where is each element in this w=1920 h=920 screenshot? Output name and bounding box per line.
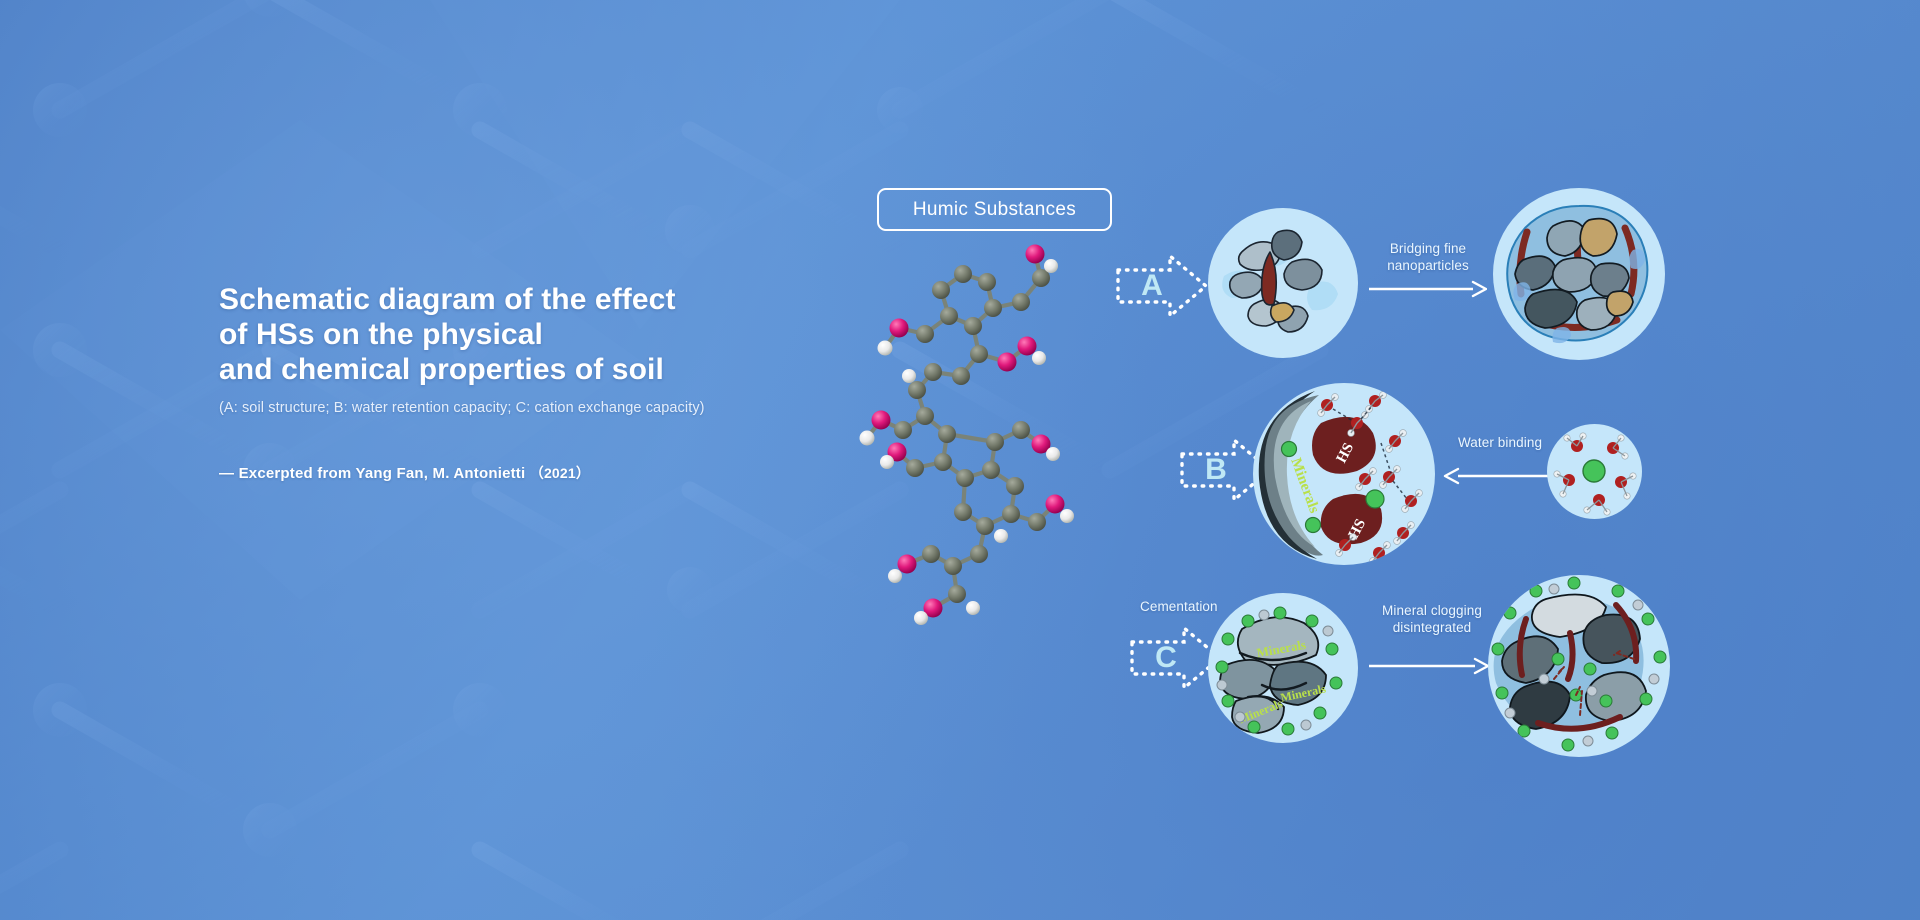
circle-b-end xyxy=(1547,424,1642,519)
minerals-inner-label-b: Minerals xyxy=(1287,456,1322,516)
legend-caption: (A: soil structure; B: water retention c… xyxy=(219,398,859,418)
dispersed-soil-particles-art xyxy=(1208,208,1358,358)
bridged-soil-aggregate-art xyxy=(1493,188,1665,360)
flow-label-c: Mineral clogging disintegrated xyxy=(1362,602,1502,636)
circle-a-start xyxy=(1208,208,1358,358)
step-letter-c: C xyxy=(1146,643,1186,673)
cemented-mineral-aggregate-art: Minerals Minerals Minerals xyxy=(1208,593,1358,743)
flow-arrow-a xyxy=(1369,278,1487,300)
step-letter-b: B xyxy=(1196,455,1236,485)
flow-label-a: Bridging fine nanoparticles xyxy=(1364,240,1492,274)
disintegrated-aggregate-art xyxy=(1488,575,1670,757)
page-title: Schematic diagram of the effect of HSs o… xyxy=(219,282,859,387)
headline-line-3: and chemical properties of soil xyxy=(219,352,859,387)
flow-arrow-c xyxy=(1369,655,1489,677)
circle-c-start: Minerals Minerals Minerals xyxy=(1208,593,1358,743)
flow-label-b: Water binding xyxy=(1434,434,1566,451)
circle-c-end xyxy=(1488,575,1670,757)
circle-b-start: HS HS Minerals xyxy=(1253,383,1435,565)
circle-a-end xyxy=(1493,188,1665,360)
humic-substances-label: Humic Substances xyxy=(877,188,1112,231)
headline-line-1: Schematic diagram of the effect xyxy=(219,282,859,317)
text-panel: Schematic diagram of the effect of HSs o… xyxy=(219,282,859,483)
water-cluster-art xyxy=(1547,424,1642,519)
headline-line-2: of HSs on the physical xyxy=(219,317,859,352)
step-letter-a: A xyxy=(1132,271,1172,301)
hs-mineral-water-complex-art: HS HS Minerals xyxy=(1253,383,1435,565)
poster-canvas: Schematic diagram of the effect of HSs o… xyxy=(0,0,1920,920)
humic-substances-label-text: Humic Substances xyxy=(913,199,1076,221)
attribution-text: — Excerpted from Yang Fan, M. Antonietti xyxy=(219,465,525,482)
attribution-year: （2021） xyxy=(530,465,590,481)
attribution: — Excerpted from Yang Fan, M. Antonietti… xyxy=(219,463,859,483)
flow-arrow-b xyxy=(1442,465,1562,487)
